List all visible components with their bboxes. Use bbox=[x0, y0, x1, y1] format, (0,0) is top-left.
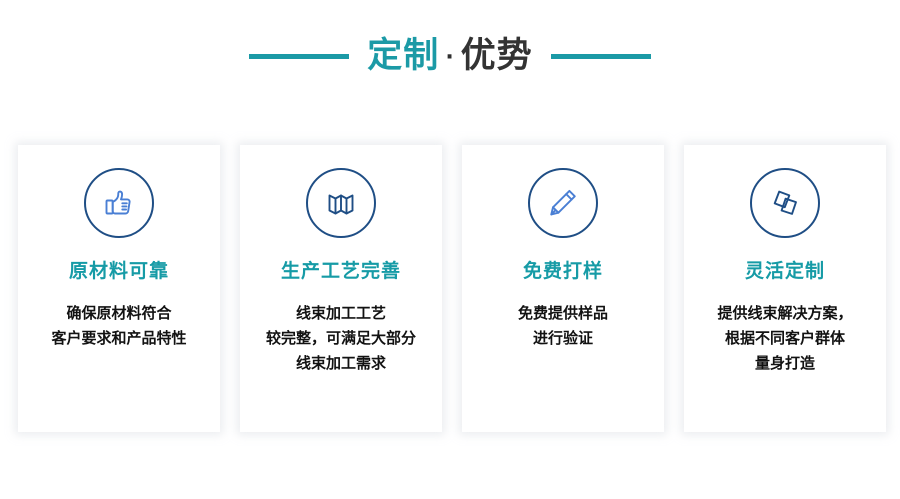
feature-card-body-line: 提供线束解决方案， bbox=[690, 301, 880, 326]
feature-card-body-line: 免费提供样品 bbox=[468, 301, 658, 326]
feature-card-body-line: 进行验证 bbox=[468, 326, 658, 351]
feature-card-body: 提供线束解决方案， 根据不同客户群体 量身打造 bbox=[690, 301, 880, 376]
page-title: 定制 · 优势 bbox=[367, 39, 532, 74]
pencil-icon bbox=[545, 185, 581, 221]
feature-card-body: 免费提供样品 进行验证 bbox=[468, 301, 658, 351]
icon-circle bbox=[750, 168, 820, 238]
feature-card-body-line: 线束加工需求 bbox=[246, 351, 436, 376]
heading-rule-left bbox=[249, 54, 349, 59]
feature-card-body-line: 根据不同客户群体 bbox=[690, 326, 880, 351]
feature-card-body-line: 客户要求和产品特性 bbox=[24, 326, 214, 351]
heading-rule-right bbox=[551, 54, 651, 59]
icon-circle bbox=[306, 168, 376, 238]
page-title-separator: · bbox=[439, 47, 460, 69]
feature-card-list: 原材料可靠 确保原材料符合 客户要求和产品特性 生产工艺完善 线束加工工艺 较完… bbox=[18, 145, 886, 432]
feature-card-flexible-customization[interactable]: 灵活定制 提供线束解决方案， 根据不同客户群体 量身打造 bbox=[684, 145, 886, 432]
icon-circle bbox=[84, 168, 154, 238]
feature-card-title: 生产工艺完善 bbox=[281, 262, 401, 281]
feature-card-body-line: 确保原材料符合 bbox=[24, 301, 214, 326]
folded-map-icon bbox=[323, 185, 359, 221]
feature-card-body-line: 量身打造 bbox=[690, 351, 880, 376]
section-heading: 定制 · 优势 bbox=[0, 28, 900, 84]
feature-card-raw-material[interactable]: 原材料可靠 确保原材料符合 客户要求和产品特性 bbox=[18, 145, 220, 432]
icon-circle bbox=[528, 168, 598, 238]
feature-card-body-line: 较完整，可满足大部分 bbox=[246, 326, 436, 351]
page-title-secondary: 优势 bbox=[461, 39, 533, 74]
feature-card-title: 原材料可靠 bbox=[69, 262, 169, 281]
feature-card-title: 免费打样 bbox=[523, 262, 603, 281]
stacked-cards-icon bbox=[767, 185, 803, 221]
feature-card-body: 确保原材料符合 客户要求和产品特性 bbox=[24, 301, 214, 351]
feature-card-body-line: 线束加工工艺 bbox=[246, 301, 436, 326]
feature-card-title: 灵活定制 bbox=[745, 262, 825, 281]
feature-card-body: 线束加工工艺 较完整，可满足大部分 线束加工需求 bbox=[246, 301, 436, 376]
page-title-primary: 定制 bbox=[367, 39, 439, 74]
feature-card-free-sample[interactable]: 免费打样 免费提供样品 进行验证 bbox=[462, 145, 664, 432]
thumbs-up-icon bbox=[101, 185, 137, 221]
feature-card-production-process[interactable]: 生产工艺完善 线束加工工艺 较完整，可满足大部分 线束加工需求 bbox=[240, 145, 442, 432]
